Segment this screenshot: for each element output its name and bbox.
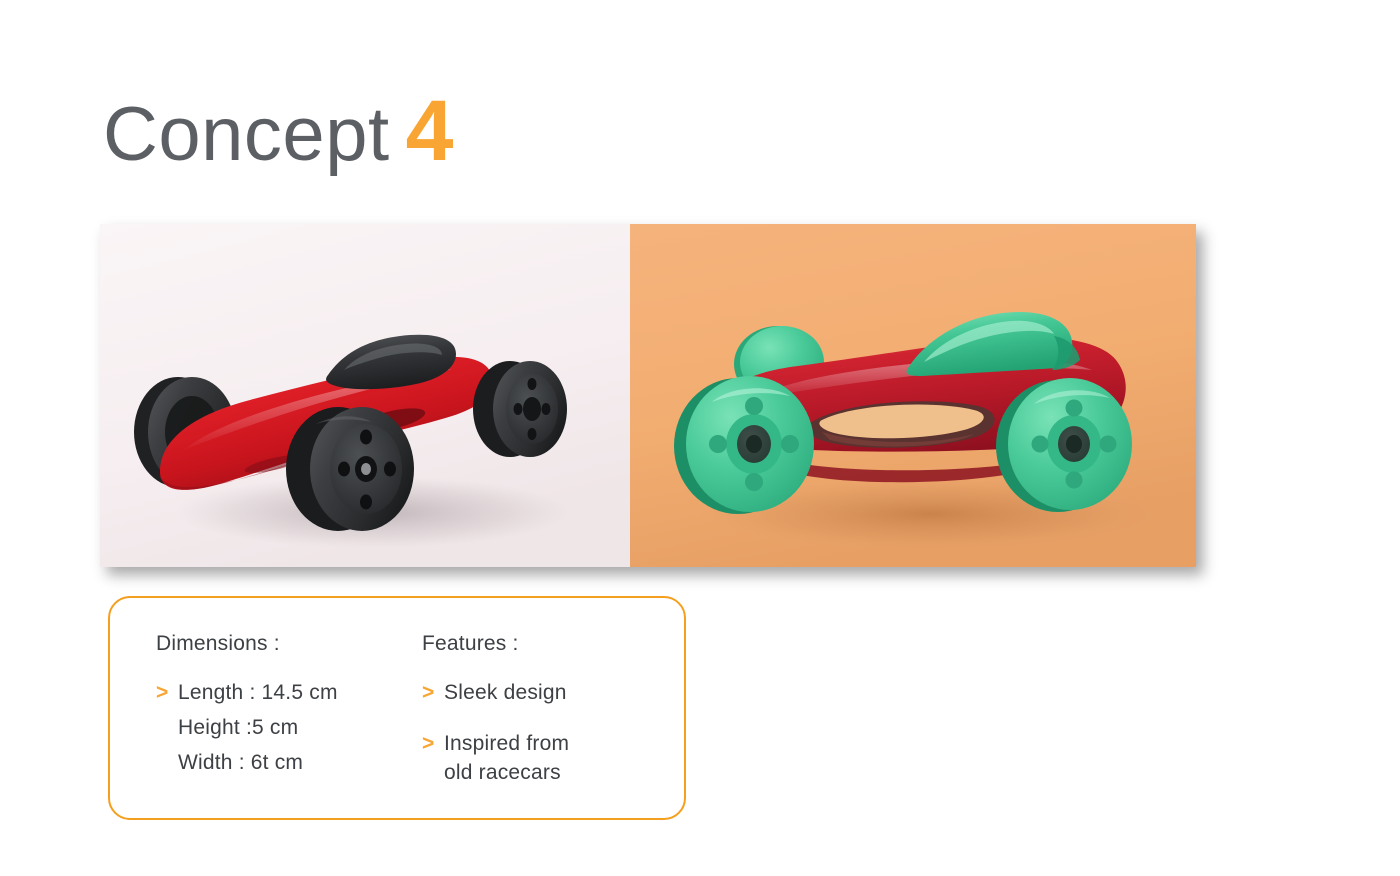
- dimensions-column: Dimensions : > Length : 14.5 cm > Height…: [156, 632, 426, 783]
- bullet-spacer: >: [156, 748, 178, 777]
- features-sleek-design-text: Sleek design: [444, 678, 567, 707]
- concept-photo-right[interactable]: [630, 224, 1196, 567]
- concept-image-strip: [100, 224, 1196, 567]
- dimensions-width-text: Width : 6t cm: [178, 748, 303, 777]
- features-inspired-text: Inspired from old racecars: [444, 729, 569, 787]
- chevron-right-icon: >: [156, 678, 178, 707]
- red-car-green-wheels-illustration: [630, 224, 1196, 567]
- specs-info-box: Dimensions : > Length : 14.5 cm > Height…: [108, 596, 686, 820]
- page-title-word: Concept: [103, 92, 390, 177]
- page-title-number: 4: [406, 83, 454, 179]
- dimensions-item-length: > Length : 14.5 cm: [156, 678, 426, 707]
- dimensions-item-height: > Height :5 cm: [156, 713, 426, 742]
- red-car-black-wheels-illustration: [100, 224, 630, 567]
- features-item-inspired-from: > Inspired from old racecars: [422, 729, 662, 787]
- chevron-right-icon: >: [422, 678, 444, 707]
- features-heading: Features :: [422, 632, 662, 656]
- features-item-sleek-design: > Sleek design: [422, 678, 662, 707]
- concept-photo-left[interactable]: [100, 224, 630, 567]
- dimensions-item-width: > Width : 6t cm: [156, 748, 426, 777]
- dimensions-heading: Dimensions :: [156, 632, 426, 656]
- dimensions-height-text: Height :5 cm: [178, 713, 298, 742]
- chevron-right-icon: >: [422, 729, 444, 758]
- features-column: Features : > Sleek design > Inspired fro…: [422, 632, 662, 793]
- bullet-spacer: >: [156, 713, 178, 742]
- dimensions-length-text: Length : 14.5 cm: [178, 678, 338, 707]
- page-title: Concept4: [103, 88, 453, 174]
